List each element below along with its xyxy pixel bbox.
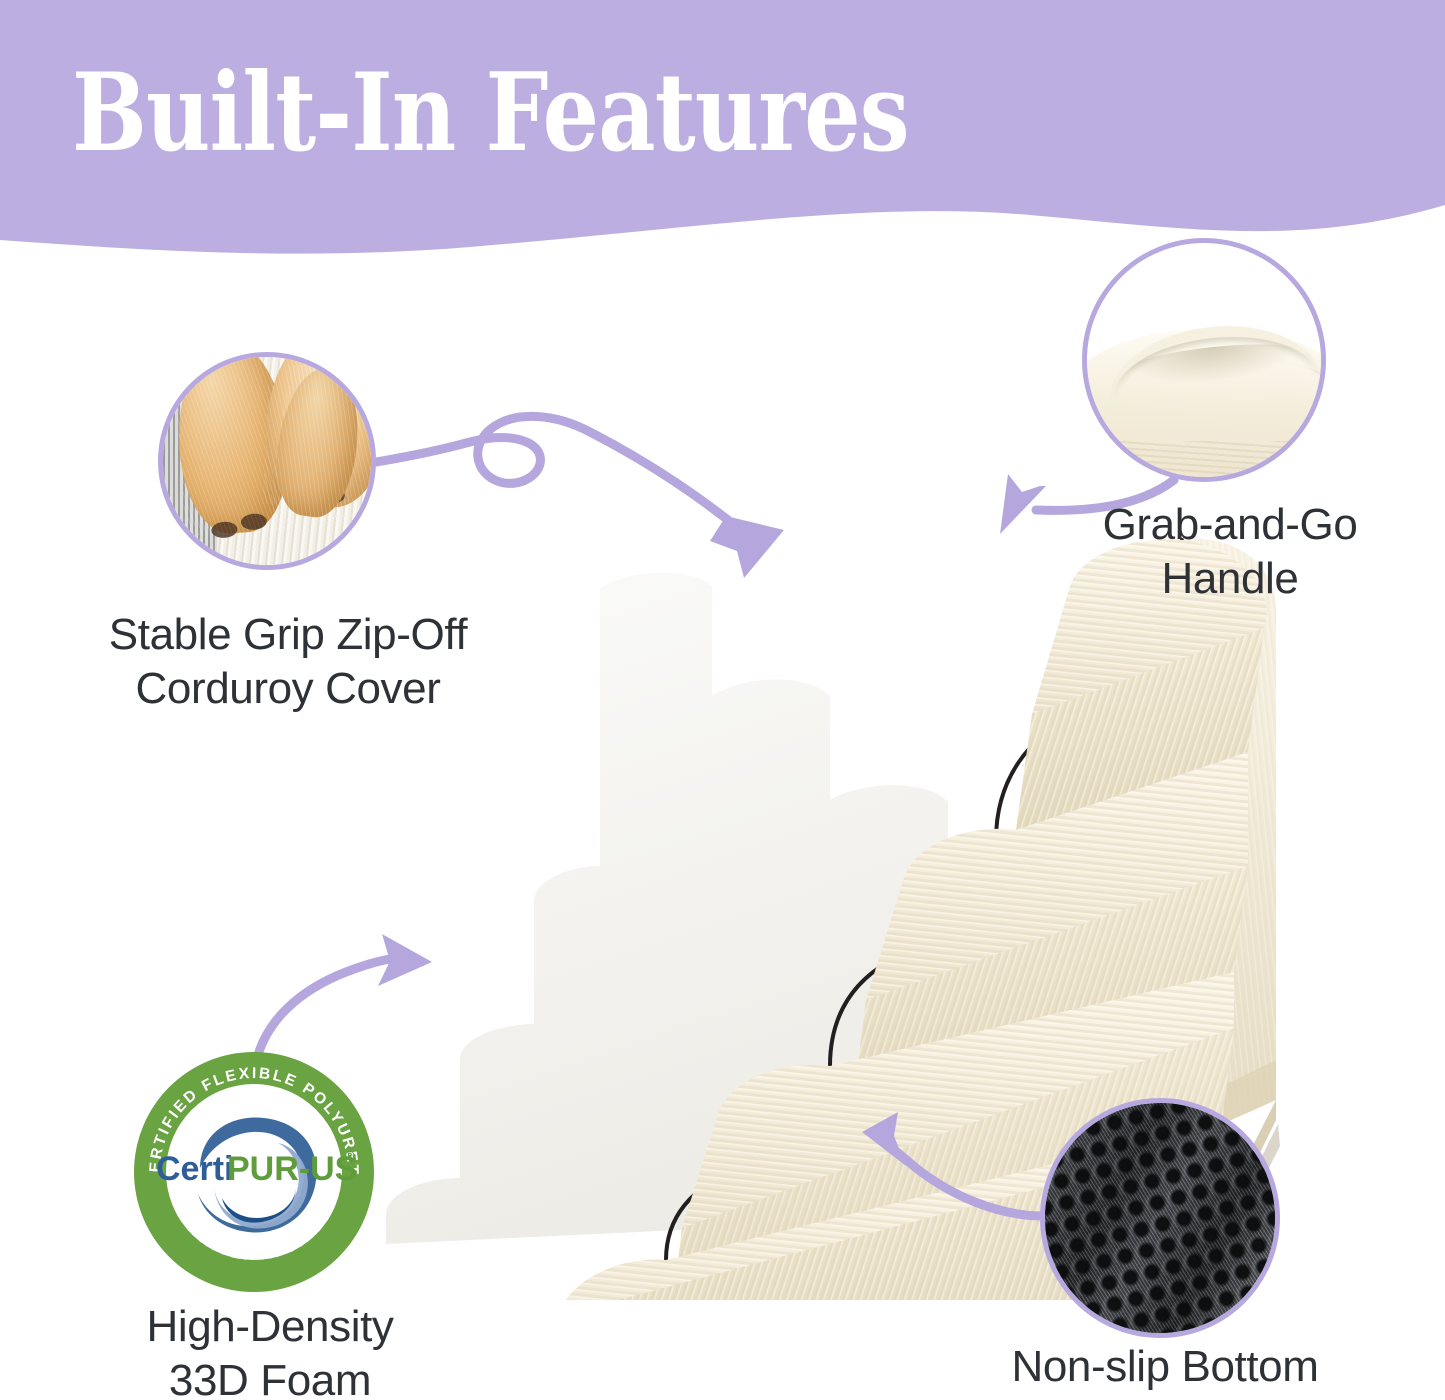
- callout-label-corduroy: Stable Grip Zip-Off Corduroy Cover: [48, 608, 528, 715]
- badge-registered-mark: ®: [345, 1148, 355, 1163]
- carry-handle-photo: [1087, 243, 1321, 477]
- nonslip-grip-dots: [1040, 1098, 1280, 1338]
- handle-seam: [1234, 359, 1326, 442]
- callout-circle-corduroy[interactable]: [158, 352, 376, 570]
- callout-label-handle: Grab-and-Go Handle: [1030, 498, 1430, 605]
- banner-wave-shape: [0, 0, 1445, 254]
- non-slip-dotted-fabric-photo: [1045, 1103, 1275, 1333]
- infographic-canvas: Built-In Features: [0, 0, 1445, 1400]
- badge-brand-text-1: Certi: [156, 1150, 233, 1188]
- callout-circle-handle[interactable]: [1082, 238, 1326, 482]
- callout-label-foam: High-Density 33D Foam: [70, 1300, 470, 1400]
- dog-paws-on-corduroy-photo: [163, 357, 371, 565]
- callout-circle-nonslip[interactable]: [1040, 1098, 1280, 1338]
- badge-brand-text-2: PUR-US: [227, 1150, 357, 1188]
- header-banner: Built-In Features: [0, 0, 1445, 270]
- handle-rib-texture: [1082, 441, 1326, 482]
- certipur-us-badge[interactable]: CONTAINS CERTIFIED FLEXIBLE POLYURETHANE…: [130, 1048, 378, 1296]
- callout-label-nonslip: Non-slip Bottom: [960, 1340, 1370, 1394]
